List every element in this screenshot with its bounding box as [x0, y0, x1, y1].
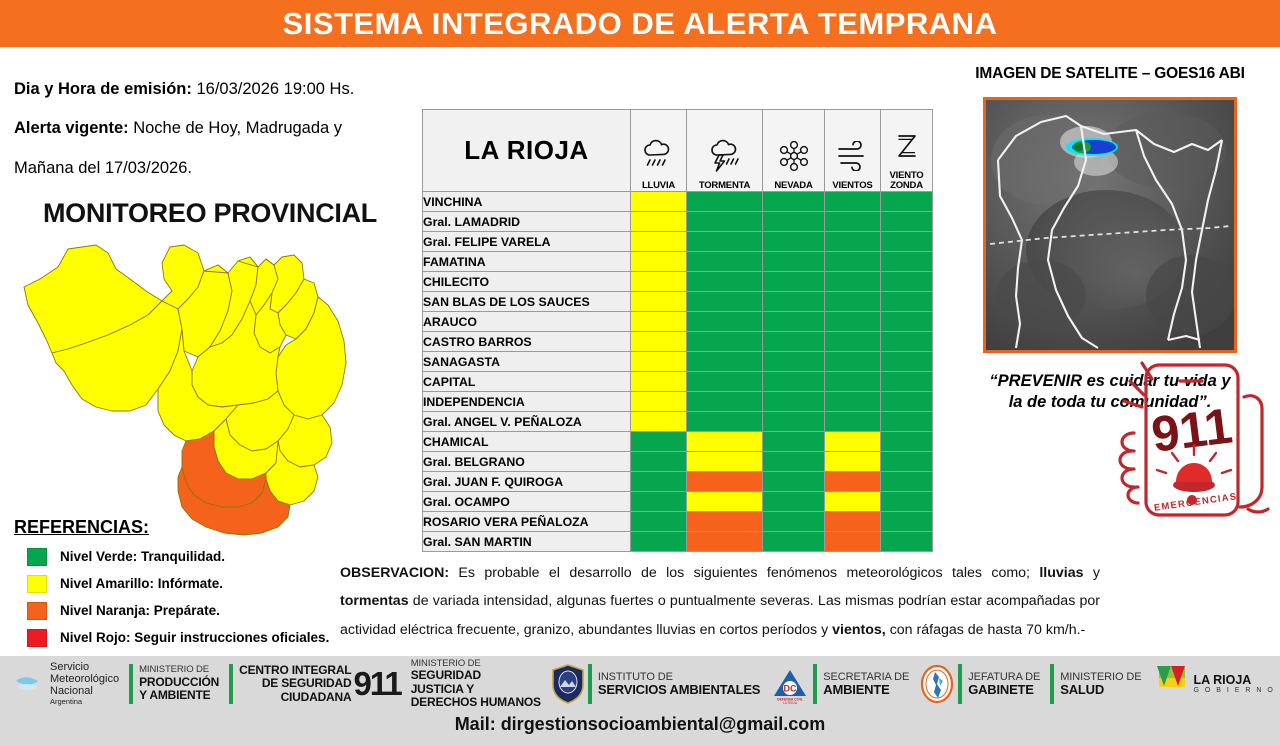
alert-cell-lluvia	[631, 232, 687, 252]
alert-cell-viento_zonda	[881, 212, 933, 232]
alert-cell-tormenta	[687, 352, 763, 372]
logo-instituto-servicios-ambientales[interactable]: INSTITUTO DE SERVICIOS AMBIENTALES	[546, 659, 765, 709]
app-title-banner: SISTEMA INTEGRADO DE ALERTA TEMPRANA	[0, 0, 1280, 47]
alert-cell-tormenta	[687, 432, 763, 452]
table-row: CASTRO BARROS	[423, 332, 933, 352]
divider-bar	[229, 664, 233, 704]
divider-bar	[129, 664, 133, 704]
alert-cell-nevada	[763, 412, 825, 432]
wind-icon	[825, 131, 880, 181]
alert-cell-viento_zonda	[881, 412, 933, 432]
right-column: IMAGEN DE SATELITE – GOES16 ABI	[940, 47, 1280, 656]
alert-cell-lluvia	[631, 332, 687, 352]
alert-cell-tormenta	[687, 232, 763, 252]
alert-cell-nevada	[763, 332, 825, 352]
alert-cell-vientos	[825, 292, 881, 312]
alert-cell-viento_zonda	[881, 532, 933, 552]
mpa-big-1: PRODUCCIÓN	[139, 676, 219, 689]
alert-cell-viento_zonda	[881, 332, 933, 352]
logo-ministerio-seguridad-justicia[interactable]: MINISTERIO DE SEGURIDAD JUSTICIA Y DEREC…	[406, 659, 546, 709]
alert-cell-nevada	[763, 252, 825, 272]
alert-cell-tormenta	[687, 312, 763, 332]
alert-cell-tormenta	[687, 372, 763, 392]
department-name-cell: INDEPENDENCIA	[423, 392, 631, 412]
table-row: FAMATINA	[423, 252, 933, 272]
department-name-cell: Gral. LAMADRID	[423, 212, 631, 232]
table-row: Gral. BELGRANO	[423, 452, 933, 472]
logo-ministerio-produccion-ambiente[interactable]: MINISTERIO DE PRODUCCIÓN Y AMBIENTE	[124, 659, 224, 709]
alert-cell-lluvia	[631, 212, 687, 232]
department-name-cell: CHAMICAL	[423, 432, 631, 452]
alert-cell-vientos	[825, 472, 881, 492]
alert-cell-tormenta	[687, 412, 763, 432]
legend-item-amarillo: Nivel Amarillo: Infórmate.	[14, 574, 354, 593]
referencias-title: REFERENCIAS:	[14, 517, 354, 538]
alert-cell-tormenta	[687, 212, 763, 232]
alert-cell-nevada	[763, 492, 825, 512]
department-name-cell: Gral. FELIPE VARELA	[423, 232, 631, 252]
department-name-cell: CASTRO BARROS	[423, 332, 631, 352]
column-header-tormenta: TORMENTA	[687, 110, 763, 192]
alert-cell-vientos	[825, 312, 881, 332]
sa-big-1: AMBIENTE	[823, 683, 909, 698]
alert-cell-viento_zonda	[881, 192, 933, 212]
alert-cell-nevada	[763, 372, 825, 392]
alert-cell-nevada	[763, 352, 825, 372]
column-header-viento-zonda: VIENTO ZONDA	[881, 110, 933, 192]
alert-cell-lluvia	[631, 532, 687, 552]
alert-cell-nevada	[763, 192, 825, 212]
table-row: Gral. JUAN F. QUIROGA	[423, 472, 933, 492]
department-name-cell: ROSARIO VERA PEÑALOZA	[423, 512, 631, 532]
alert-cell-vientos	[825, 392, 881, 412]
alert-cell-viento_zonda	[881, 372, 933, 392]
department-name-cell: Gral. JUAN F. QUIROGA	[423, 472, 631, 492]
legend-label-verde: Nivel Verde: Tranquilidad.	[60, 549, 225, 564]
lr-big: LA RIOJA	[1193, 674, 1274, 687]
column-header-nevada: NEVADA	[763, 110, 825, 192]
divider-bar	[1050, 664, 1054, 704]
divider-bar	[588, 664, 592, 704]
province-name: LA RIOJA	[464, 135, 588, 165]
msj-big-1: SEGURIDAD	[411, 669, 541, 682]
legend-label-amarillo: Nivel Amarillo: Infórmate.	[60, 576, 223, 591]
msj-big-2: JUSTICIA Y	[411, 683, 541, 696]
cisc-big-3: CIUDADANA	[239, 691, 351, 704]
department-name-cell: Gral. SAN MARTIN	[423, 532, 631, 552]
main-content: Dia y Hora de emisión: 16/03/2026 19:00 …	[0, 47, 1280, 656]
cisc-big-2: DE SEGURIDAD	[239, 677, 351, 690]
alert-cell-tormenta	[687, 452, 763, 472]
alert-cell-vientos	[825, 492, 881, 512]
alert-cell-vientos	[825, 192, 881, 212]
legend-swatch-amarillo	[27, 575, 47, 593]
alert-cell-viento_zonda	[881, 292, 933, 312]
defensa-civil-icon: DC DEFENSA CIVIL LA RIOJA	[770, 664, 810, 704]
alert-cell-viento_zonda	[881, 392, 933, 412]
isa-text: INSTITUTO DE SERVICIOS AMBIENTALES	[598, 671, 760, 698]
alert-cell-lluvia	[631, 492, 687, 512]
smn-logo-icon	[11, 666, 45, 702]
alert-cell-nevada	[763, 232, 825, 252]
alert-cell-viento_zonda	[881, 512, 933, 532]
alert-cell-viento_zonda	[881, 252, 933, 272]
logo-ministerio-salud[interactable]: MINISTERIO DE SALUD	[1045, 659, 1146, 709]
smn-line-4: Argentina	[50, 698, 119, 706]
alert-cell-vientos	[825, 252, 881, 272]
table-row: VINCHINA	[423, 192, 933, 212]
zonda-wind-icon	[881, 121, 932, 171]
observacion-label: OBSERVACION:	[340, 565, 449, 581]
alert-cell-tormenta	[687, 472, 763, 492]
department-name-cell: Gral. OCAMPO	[423, 492, 631, 512]
legend-item-rojo: Nivel Rojo: Seguir instrucciones oficial…	[14, 628, 354, 647]
svg-text:LA RIOJA: LA RIOJA	[783, 701, 798, 704]
referencias-legend: REFERENCIAS: Nivel Verde: Tranquilidad. …	[14, 517, 354, 655]
alert-cell-lluvia	[631, 472, 687, 492]
monitoreo-provincial-title: MONITOREO PROVINCIAL	[0, 198, 420, 229]
alert-validity-value-1: Noche de Hoy, Madrugada y	[133, 119, 342, 137]
alert-cell-lluvia	[631, 252, 687, 272]
observacion-bold-tormentas: tormentas	[340, 593, 409, 609]
smn-line-3: Nacional	[50, 686, 119, 698]
alert-cell-vientos	[825, 352, 881, 372]
alert-cell-lluvia	[631, 292, 687, 312]
alert-validity-label: Alerta vigente:	[14, 119, 129, 137]
alert-cell-vientos	[825, 512, 881, 532]
alert-validity-line-1: Alerta vigente: Noche de Hoy, Madrugada …	[14, 98, 420, 137]
mpa-big-2: Y AMBIENTE	[139, 689, 219, 702]
alert-cell-lluvia	[631, 272, 687, 292]
ministerio-produccion-text: MINISTERIO DE PRODUCCIÓN Y AMBIENTE	[139, 665, 219, 703]
alert-cell-vientos	[825, 452, 881, 472]
svg-text:DC: DC	[784, 684, 797, 694]
alert-cell-viento_zonda	[881, 452, 933, 472]
emission-datetime-line: Dia y Hora de emisión: 16/03/2026 19:00 …	[14, 47, 420, 98]
column-label-vientos: VIENTOS	[825, 181, 880, 191]
column-label-tormenta: TORMENTA	[687, 181, 762, 191]
alert-validity-line-2: Mañana del 17/03/2026.	[14, 138, 420, 177]
table-row: ARAUCO	[423, 312, 933, 332]
alert-cell-viento_zonda	[881, 352, 933, 372]
alert-matrix-table: LA RIOJA LLUVIA	[422, 109, 933, 552]
alert-cell-viento_zonda	[881, 492, 933, 512]
department-name-cell: CHILECITO	[423, 272, 631, 292]
department-name-cell: FAMATINA	[423, 252, 631, 272]
department-name-cell: ARAUCO	[423, 312, 631, 332]
province-header-cell: LA RIOJA	[423, 110, 631, 192]
column-label-viento-zonda: VIENTO ZONDA	[881, 171, 932, 191]
alert-cell-nevada	[763, 292, 825, 312]
cisc-text: CENTRO INTEGRAL DE SEGURIDAD CIUDADANA	[239, 664, 351, 704]
alert-cell-nevada	[763, 272, 825, 292]
table-row: CAPITAL	[423, 372, 933, 392]
alert-cell-nevada	[763, 472, 825, 492]
alert-cell-tormenta	[687, 252, 763, 272]
emergency-caption: EMERGENCIAS	[1153, 491, 1238, 514]
la-rioja-text: LA RIOJA G O B I E R N O	[1193, 674, 1274, 694]
table-row: SAN BLAS DE LOS SAUCES	[423, 292, 933, 312]
divider-bar	[958, 664, 962, 704]
alert-cell-lluvia	[631, 312, 687, 332]
alert-cell-tormenta	[687, 292, 763, 312]
alert-validity-value-2: Mañana del 17/03/2026.	[14, 159, 192, 177]
observacion-bold-vientos: vientos,	[832, 622, 886, 638]
logo-secretaria-ambiente[interactable]: DC DEFENSA CIVIL LA RIOJA SECRETARIA DE …	[765, 659, 914, 709]
alert-cell-tormenta	[687, 332, 763, 352]
contact-mail: Mail: dirgestionsocioambiental@gmail.com	[0, 714, 1280, 735]
la-rioja-flag-icon	[1151, 664, 1191, 704]
column-header-lluvia: LLUVIA	[631, 110, 687, 192]
table-row: CHAMICAL	[423, 432, 933, 452]
thunderstorm-icon	[687, 131, 762, 181]
alert-cell-tormenta	[687, 192, 763, 212]
legend-swatch-rojo	[27, 629, 47, 647]
alert-cell-tormenta	[687, 532, 763, 552]
cisc-big-1: CENTRO INTEGRAL	[239, 664, 351, 677]
table-row: Gral. ANGEL V. PEÑALOZA	[423, 412, 933, 432]
department-name-cell: Gral. ANGEL V. PEÑALOZA	[423, 412, 631, 432]
alert-cell-nevada	[763, 532, 825, 552]
jg-text: JEFATURA DE GABINETE	[968, 671, 1040, 698]
alert-cell-nevada	[763, 452, 825, 472]
msj-text: MINISTERIO DE SEGURIDAD JUSTICIA Y DEREC…	[411, 659, 541, 710]
alert-cell-vientos	[825, 272, 881, 292]
cisc-911-number: 911	[353, 669, 400, 699]
department-name-cell: Gral. BELGRANO	[423, 452, 631, 472]
alert-cell-vientos	[825, 332, 881, 352]
msj-big-3: DERECHOS HUMANOS	[411, 696, 541, 709]
alert-cell-tormenta	[687, 392, 763, 412]
sa-text: SECRETARIA DE AMBIENTE	[823, 671, 909, 698]
alert-cell-nevada	[763, 432, 825, 452]
alert-cell-lluvia	[631, 372, 687, 392]
alert-cell-tormenta	[687, 272, 763, 292]
alert-cell-lluvia	[631, 512, 687, 532]
logo-la-rioja-gobierno[interactable]: LA RIOJA G O B I E R N O	[1146, 659, 1279, 709]
legend-label-rojo: Nivel Rojo: Seguir instrucciones oficial…	[60, 630, 329, 645]
satellite-image-title: IMAGEN DE SATELITE – GOES16 ABI	[940, 47, 1280, 83]
alert-cell-vientos	[825, 212, 881, 232]
alert-cell-lluvia	[631, 192, 687, 212]
alert-cell-viento_zonda	[881, 272, 933, 292]
alert-table-body: VINCHINAGral. LAMADRIDGral. FELIPE VAREL…	[423, 192, 933, 552]
alert-cell-nevada	[763, 512, 825, 532]
table-row: Gral. SAN MARTIN	[423, 532, 933, 552]
alert-cell-vientos	[825, 532, 881, 552]
alert-cell-vientos	[825, 432, 881, 452]
alert-cell-lluvia	[631, 412, 687, 432]
alert-cell-lluvia	[631, 392, 687, 412]
alert-cell-viento_zonda	[881, 312, 933, 332]
table-header-row: LA RIOJA LLUVIA	[423, 110, 933, 192]
table-row: Gral. OCAMPO	[423, 492, 933, 512]
police-shield-icon	[551, 664, 585, 704]
emission-datetime-label: Dia y Hora de emisión:	[14, 80, 192, 98]
table-row: Gral. LAMADRID	[423, 212, 933, 232]
column-label-nevada: NEVADA	[763, 181, 824, 191]
smn-logo-text: Servicio Meteorológico Nacional Argentin…	[50, 662, 119, 706]
alert-cell-lluvia	[631, 432, 687, 452]
logo-centro-integral-seguridad[interactable]: CENTRO INTEGRAL DE SEGURIDAD CIUDADANA 9…	[224, 659, 406, 709]
emergency-911-badge: 911 EMERGENCIAS	[1108, 337, 1280, 522]
logo-servicio-meteorologico-nacional[interactable]: Servicio Meteorológico Nacional Argentin…	[6, 659, 124, 709]
table-row: Gral. FELIPE VARELA	[423, 232, 933, 252]
alert-matrix-table-wrapper: LA RIOJA LLUVIA	[422, 109, 934, 552]
alert-cell-nevada	[763, 392, 825, 412]
alert-cell-nevada	[763, 312, 825, 332]
alert-cell-tormenta	[687, 512, 763, 532]
rain-cloud-icon	[631, 131, 686, 181]
lr-small: G O B I E R N O	[1193, 687, 1274, 694]
snowflake-icon	[763, 131, 824, 181]
alert-cell-nevada	[763, 212, 825, 232]
alert-cell-lluvia	[631, 352, 687, 372]
table-row: SANAGASTA	[423, 352, 933, 372]
logo-jefatura-gabinete[interactable]: JEFATURA DE GABINETE	[914, 659, 1045, 709]
alert-cell-lluvia	[631, 452, 687, 472]
emission-datetime-value: 16/03/2026 19:00 Hs.	[196, 80, 354, 98]
department-name-cell: CAPITAL	[423, 372, 631, 392]
page-title: SISTEMA INTEGRADO DE ALERTA TEMPRANA	[283, 6, 998, 42]
department-name-cell: VINCHINA	[423, 192, 631, 212]
alert-cell-viento_zonda	[881, 472, 933, 492]
table-row: INDEPENDENCIA	[423, 392, 933, 412]
legend-label-naranja: Nivel Naranja: Prepárate.	[60, 603, 220, 618]
alert-cell-vientos	[825, 372, 881, 392]
department-name-cell: SANAGASTA	[423, 352, 631, 372]
alert-cell-viento_zonda	[881, 432, 933, 452]
column-header-vientos: VIENTOS	[825, 110, 881, 192]
alert-cell-vientos	[825, 412, 881, 432]
legend-item-naranja: Nivel Naranja: Prepárate.	[14, 601, 354, 620]
table-row: CHILECITO	[423, 272, 933, 292]
legend-swatch-naranja	[27, 602, 47, 620]
emergency-number: 911	[1148, 397, 1235, 462]
ms-big-1: SALUD	[1060, 683, 1141, 698]
column-label-lluvia: LLUVIA	[631, 181, 686, 191]
divider-bar	[813, 664, 817, 704]
legend-swatch-verde	[27, 548, 47, 566]
satellite-image	[983, 97, 1237, 353]
table-row: ROSARIO VERA PEÑALOZA	[423, 512, 933, 532]
province-alert-map	[12, 239, 372, 539]
isa-big-1: SERVICIOS AMBIENTALES	[598, 683, 760, 698]
footer-logo-strip: Servicio Meteorológico Nacional Argentin…	[0, 656, 1280, 712]
footer-bar: Servicio Meteorológico Nacional Argentin…	[0, 656, 1280, 746]
department-name-cell: SAN BLAS DE LOS SAUCES	[423, 292, 631, 312]
jefatura-gabinete-icon	[919, 664, 955, 704]
ms-text: MINISTERIO DE SALUD	[1060, 671, 1141, 698]
alert-cell-vientos	[825, 232, 881, 252]
jg-big-1: GABINETE	[968, 683, 1040, 698]
alert-cell-tormenta	[687, 492, 763, 512]
legend-item-verde: Nivel Verde: Tranquilidad.	[14, 547, 354, 566]
alert-cell-viento_zonda	[881, 232, 933, 252]
